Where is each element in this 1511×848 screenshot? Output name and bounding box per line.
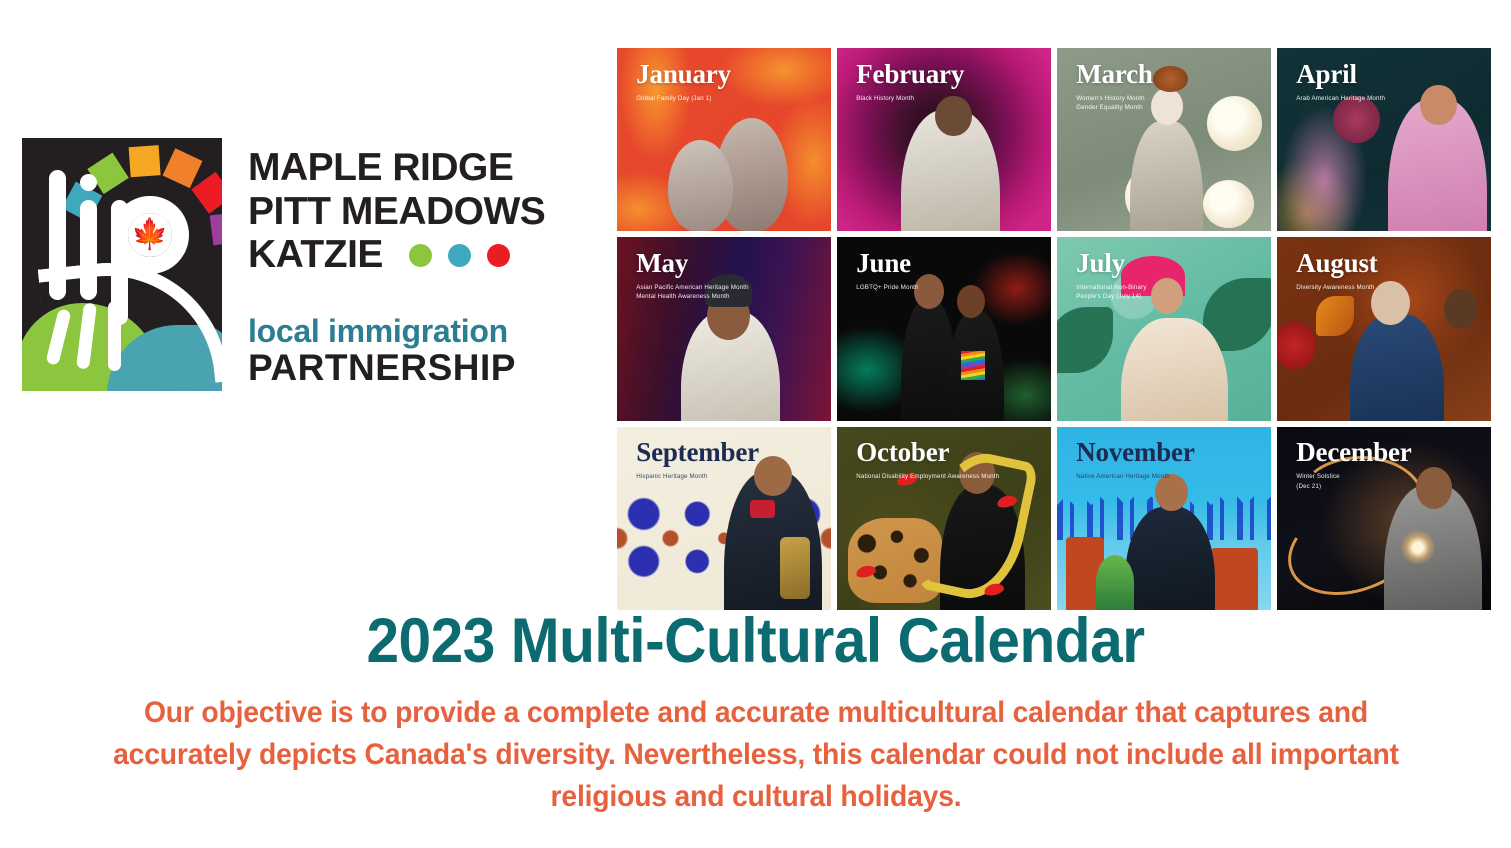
calendar-tile-october[interactable]: OctoberNational Disability Employment Aw… <box>837 427 1051 610</box>
august-photo-head-second <box>1444 289 1478 329</box>
calendar-tile-february[interactable]: FebruaryBlack History Month <box>837 48 1051 231</box>
maple-leaf-icon: 🍁 <box>131 220 168 250</box>
calendar-tile-may[interactable]: MayAsian Pacific American Heritage Month… <box>617 237 831 420</box>
brand-dot-group <box>409 244 510 267</box>
organization-logo-block: 🍁 MAPLE RIDGE PITT MEADOWS KATZIE local … <box>22 138 582 403</box>
logo-arc-segment-orange <box>163 148 203 188</box>
calendar-tile-august[interactable]: AugustDiversity Awareness Month <box>1277 237 1491 420</box>
wordmark-partnership: PARTNERSHIP <box>248 349 545 388</box>
logo-arc-segment-purple <box>210 212 222 245</box>
june-pride-stripes <box>961 351 985 380</box>
march-photo-head <box>1151 88 1183 125</box>
calendar-tile-september[interactable]: SeptemberHispanic Heritage Month <box>617 427 831 610</box>
december-sparkler-burst <box>1401 529 1435 566</box>
april-floral-ornament <box>1333 96 1380 144</box>
page-title: 2023 Multi-Cultural Calendar <box>53 608 1458 675</box>
september-bow-tie <box>750 500 776 518</box>
march-crown-ornament <box>1153 66 1187 92</box>
logo-maple-circle: 🍁 <box>128 213 172 257</box>
november-mesa-right <box>1211 548 1258 610</box>
brand-line-pitt-meadows: PITT MEADOWS <box>248 190 545 234</box>
red-dot <box>487 244 510 267</box>
calendar-tile-march[interactable]: MarchWomen's History Month Gender Equali… <box>1057 48 1271 231</box>
calendar-tile-january[interactable]: JanuaryGlobal Family Day (Jan 1) <box>617 48 831 231</box>
lip-logo-mark: 🍁 <box>22 138 222 391</box>
green-dot <box>409 244 432 267</box>
organization-wordmark: MAPLE RIDGE PITT MEADOWS KATZIE local im… <box>248 138 545 387</box>
january-photo-figure-child <box>668 140 732 232</box>
august-pomegranate <box>1277 322 1316 370</box>
logo-letter-i-dot <box>80 174 97 191</box>
june-photo-head-right <box>957 285 985 318</box>
may-turban <box>705 274 752 307</box>
teal-dot <box>448 244 471 267</box>
logo-arc-segment-red <box>191 172 222 214</box>
march-rose-bottom <box>1203 180 1254 228</box>
march-rose-large <box>1207 96 1263 151</box>
disclaimer-paragraph: Our objective is to provide a complete a… <box>74 692 1437 818</box>
calendar-month-grid: JanuaryGlobal Family Day (Jan 1)February… <box>617 48 1491 610</box>
brand-line-katzie-row: KATZIE <box>248 233 545 277</box>
november-yucca-plant <box>1096 555 1135 610</box>
calendar-tile-december[interactable]: DecemberWinter Solstice (Dec 21) <box>1277 427 1491 610</box>
wordmark-local-immigration: local immigration <box>248 315 545 349</box>
logo-arc-segment-amber <box>129 145 161 177</box>
logo-hand-finger-3 <box>108 301 121 371</box>
april-photo-head <box>1420 85 1456 125</box>
brand-line-katzie: KATZIE <box>248 233 383 277</box>
calendar-tile-april[interactable]: AprilArab American Heritage Month <box>1277 48 1491 231</box>
november-photo-head <box>1155 474 1187 511</box>
march-photo-figure <box>1130 121 1203 231</box>
august-photo-head <box>1371 281 1410 325</box>
june-photo-head-left <box>914 274 944 309</box>
calendar-tile-june[interactable]: JuneLGBTQ+ Pride Month <box>837 237 1051 420</box>
september-trumpet <box>780 537 810 599</box>
local-immigration-partnership-wordmark: local immigration PARTNERSHIP <box>248 315 545 387</box>
february-photo-head <box>935 96 971 136</box>
brand-line-maple-ridge: MAPLE RIDGE <box>248 146 545 190</box>
calendar-tile-july[interactable]: JulyInternational Non-Binary People's Da… <box>1057 237 1271 420</box>
calendar-tile-november[interactable]: NovemberNative American Heritage Month <box>1057 427 1271 610</box>
